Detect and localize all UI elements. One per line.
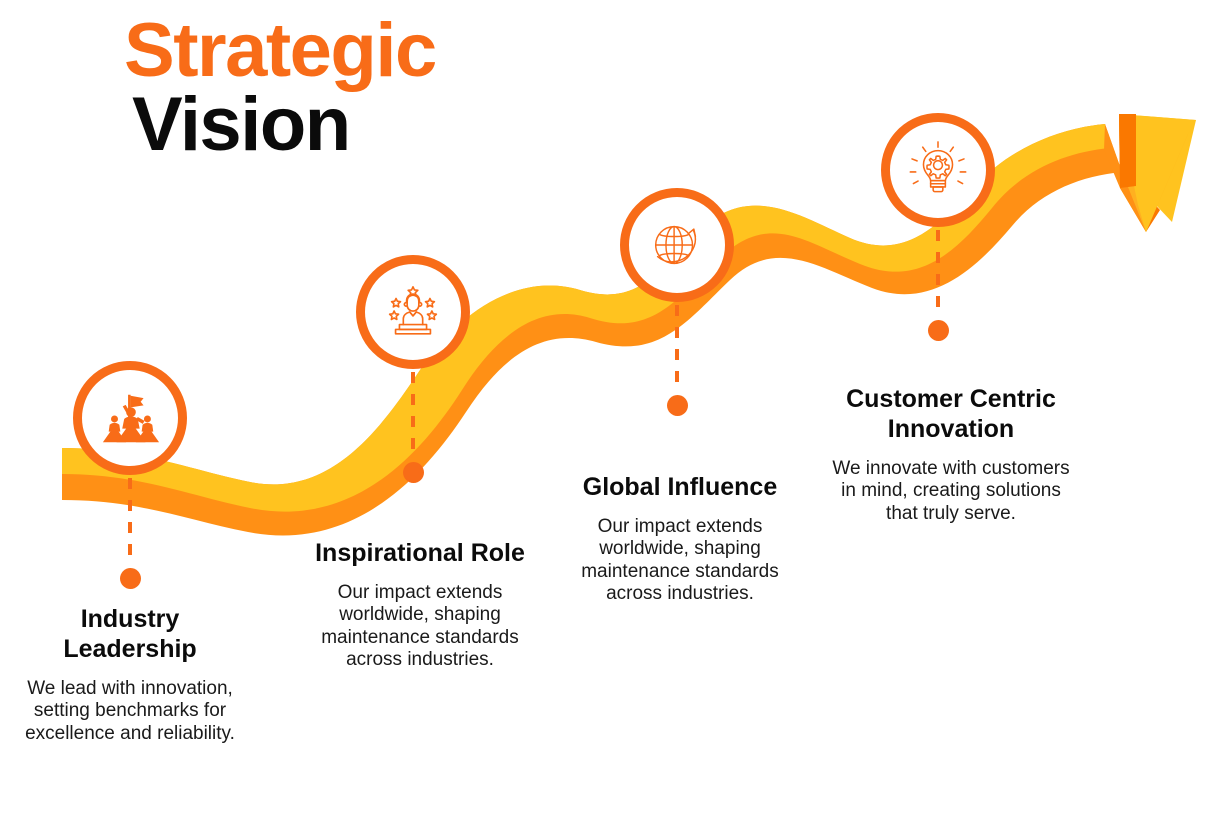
page-title-line-strategic: Strategic [124, 14, 644, 88]
arrowhead-inner-facet [1119, 114, 1188, 232]
speaker-podium-stars-icon [382, 281, 444, 343]
lightbulb-gear-idea-icon [907, 139, 969, 201]
globe-arrow-icon [646, 214, 708, 276]
connector-dashes [411, 372, 415, 460]
connector-dashes [128, 478, 132, 566]
arrowhead-base-joint [1104, 124, 1146, 232]
connector-dot [667, 395, 688, 416]
milestone-title: Customer Centric Innovation [826, 384, 1076, 444]
milestone-icon-industry-leadership[interactable] [73, 361, 187, 475]
connector-inspirational-role [401, 372, 425, 484]
milestone-icon-customer-centric-innovation[interactable] [881, 113, 995, 227]
milestone-caption-inspirational-role: Inspirational Role Our impact extends wo… [294, 538, 546, 672]
milestone-caption-industry-leadership: Industry Leadership We lead with innovat… [14, 604, 246, 745]
milestone-body: We lead with innovation, setting benchma… [14, 678, 246, 745]
milestone-body: We innovate with customers in mind, crea… [826, 458, 1076, 525]
arrowhead-fold-facet [1119, 114, 1160, 232]
summit-leader-flag-icon [99, 387, 161, 449]
connector-dot [928, 320, 949, 341]
milestone-title: Global Influence [556, 472, 804, 502]
milestone-caption-global-influence: Global Influence Our impact extends worl… [556, 472, 804, 606]
arrowhead-crease [1119, 114, 1136, 188]
milestone-title: Industry Leadership [14, 604, 246, 664]
milestone-caption-customer-centric-innovation: Customer Centric Innovation We innovate … [826, 384, 1076, 525]
connector-global-influence [665, 305, 689, 417]
connector-dot [120, 568, 141, 589]
milestone-body: Our impact extends worldwide, shaping ma… [294, 582, 546, 672]
page-title: Strategic Vision [124, 14, 644, 163]
connector-customer-centric-innovation [926, 230, 950, 342]
page-title-line-vision: Vision [132, 88, 644, 162]
connector-industry-leadership [118, 478, 142, 590]
connector-dot [403, 462, 424, 483]
connector-dashes [936, 230, 940, 318]
milestone-body: Our impact extends worldwide, shaping ma… [556, 516, 804, 606]
arrowhead-top-facet [1119, 114, 1196, 222]
milestone-icon-global-influence[interactable] [620, 188, 734, 302]
milestone-title: Inspirational Role [294, 538, 546, 568]
arrowhead-upper-sheen [1119, 114, 1196, 232]
milestone-icon-inspirational-role[interactable] [356, 255, 470, 369]
infographic-canvas: Strategic Vision [0, 0, 1216, 832]
connector-dashes [675, 305, 679, 393]
